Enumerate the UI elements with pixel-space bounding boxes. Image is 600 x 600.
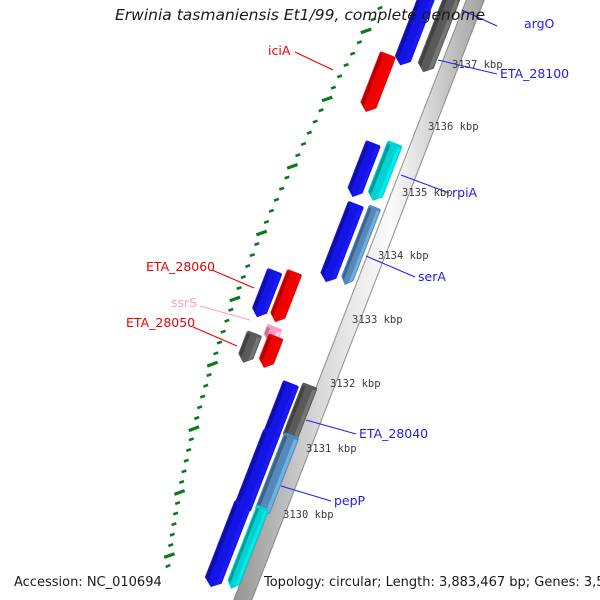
ruler-minor-tick <box>331 87 336 89</box>
ruler-minor-tick <box>182 471 187 473</box>
gene-label-sera[interactable]: serA <box>418 269 446 284</box>
label-leader-line <box>212 270 254 288</box>
ruler-minor-tick <box>170 534 175 536</box>
ruler-tick-label: 3137 kbp <box>452 59 503 71</box>
ruler-minor-tick <box>237 287 242 289</box>
ruler-minor-tick <box>274 199 279 201</box>
ruler-minor-tick <box>186 449 191 451</box>
ruler-minor-tick <box>285 177 290 179</box>
gene-label-eta_28060[interactable]: ETA_28060 <box>146 259 215 274</box>
genome-map-canvas[interactable]: 3137 kbp3136 kbp3135 kbp3134 kbp3133 kbp… <box>0 0 600 600</box>
genome-summary-label: Topology: circular; Length: 3,883,467 bp… <box>263 575 600 590</box>
ruler-minor-tick <box>264 221 269 223</box>
ruler-minor-tick <box>269 210 274 212</box>
gene-label-argo[interactable]: argO <box>524 16 555 31</box>
ruler-minor-tick <box>296 154 301 156</box>
ruler-major-tick <box>256 231 266 235</box>
gene-label-eta_28040[interactable]: ETA_28040 <box>359 426 428 441</box>
ruler-minor-tick <box>172 523 177 525</box>
gene-feature[interactable] <box>358 51 396 115</box>
ruler-minor-tick <box>301 143 306 145</box>
ruler-minor-tick <box>225 320 230 322</box>
ruler-minor-tick <box>197 406 202 408</box>
ruler-minor-tick <box>313 121 318 123</box>
gene-label-rpia[interactable]: rpiA <box>452 185 478 200</box>
genome-map-viewer: 3137 kbp3136 kbp3135 kbp3134 kbp3133 kbp… <box>0 0 600 600</box>
ruler-minor-tick <box>207 374 212 376</box>
ruler-minor-tick <box>179 481 184 483</box>
ruler-minor-tick <box>217 342 222 344</box>
ruler-minor-tick <box>175 502 180 504</box>
ruler-major-tick <box>361 29 371 33</box>
label-leader-line <box>193 327 237 346</box>
gene-feature[interactable] <box>236 330 262 366</box>
ruler-minor-tick <box>194 417 199 419</box>
ruler-tick-label: 3136 kbp <box>428 121 479 133</box>
ruler-minor-tick <box>189 439 194 441</box>
ruler-major-tick <box>174 491 184 495</box>
ruler-major-tick <box>164 554 174 558</box>
ruler-tick-label: 3134 kbp <box>378 250 429 262</box>
gene-label-ssrs[interactable]: ssrS <box>171 295 197 310</box>
gene-label-eta_28100[interactable]: ETA_28100 <box>500 66 569 81</box>
ruler-major-tick <box>230 297 240 301</box>
ruler-tick-label: 3130 kbp <box>283 509 334 521</box>
accession-label: Accession: NC_010694 <box>14 575 162 590</box>
ruler-minor-tick <box>357 41 362 43</box>
gene-label-icia[interactable]: iciA <box>268 43 291 58</box>
ruler-minor-tick <box>250 254 255 256</box>
ruler-minor-tick <box>214 353 219 355</box>
ruler-minor-tick <box>307 132 312 134</box>
ruler-tick-labels: 3137 kbp3136 kbp3135 kbp3134 kbp3133 kbp… <box>283 59 503 521</box>
ruler-major-tick <box>207 362 217 366</box>
ruler-minor-tick <box>221 331 226 333</box>
page-title: Erwinia tasmaniensis Et1/99, complete ge… <box>115 6 485 24</box>
ruler-major-tick <box>189 427 199 431</box>
ruler-tick-label: 3132 kbp <box>330 378 381 390</box>
ruler-minor-tick <box>337 76 342 78</box>
gene-label-pepp[interactable]: pepP <box>334 493 366 508</box>
ruler-minor-tick <box>168 544 173 546</box>
ruler-minor-tick <box>200 396 205 398</box>
label-leader-line <box>200 306 250 320</box>
label-leader-line <box>295 52 333 70</box>
ruler-tick-label: 3135 kbp <box>402 187 453 199</box>
ruler-minor-tick <box>229 309 234 311</box>
gene-label-eta_28050[interactable]: ETA_28050 <box>126 315 195 330</box>
ruler-minor-tick <box>255 243 260 245</box>
ruler-minor-tick <box>279 188 284 190</box>
ruler-minor-tick <box>166 565 171 567</box>
ruler-major-tick <box>287 165 297 169</box>
ruler-minor-tick <box>241 276 246 278</box>
ruler-major-tick <box>322 97 332 101</box>
ruler-minor-tick <box>203 385 208 387</box>
ruler-minor-tick <box>319 109 324 111</box>
ruler-minor-tick <box>184 460 189 462</box>
ruler-minor-tick <box>350 53 355 55</box>
ruler-minor-tick <box>245 265 250 267</box>
ruler-minor-tick <box>344 64 349 66</box>
ruler-tick-label: 3131 kbp <box>306 443 357 455</box>
ruler-tick-label: 3133 kbp <box>352 314 403 326</box>
ruler-minor-tick <box>173 513 178 515</box>
